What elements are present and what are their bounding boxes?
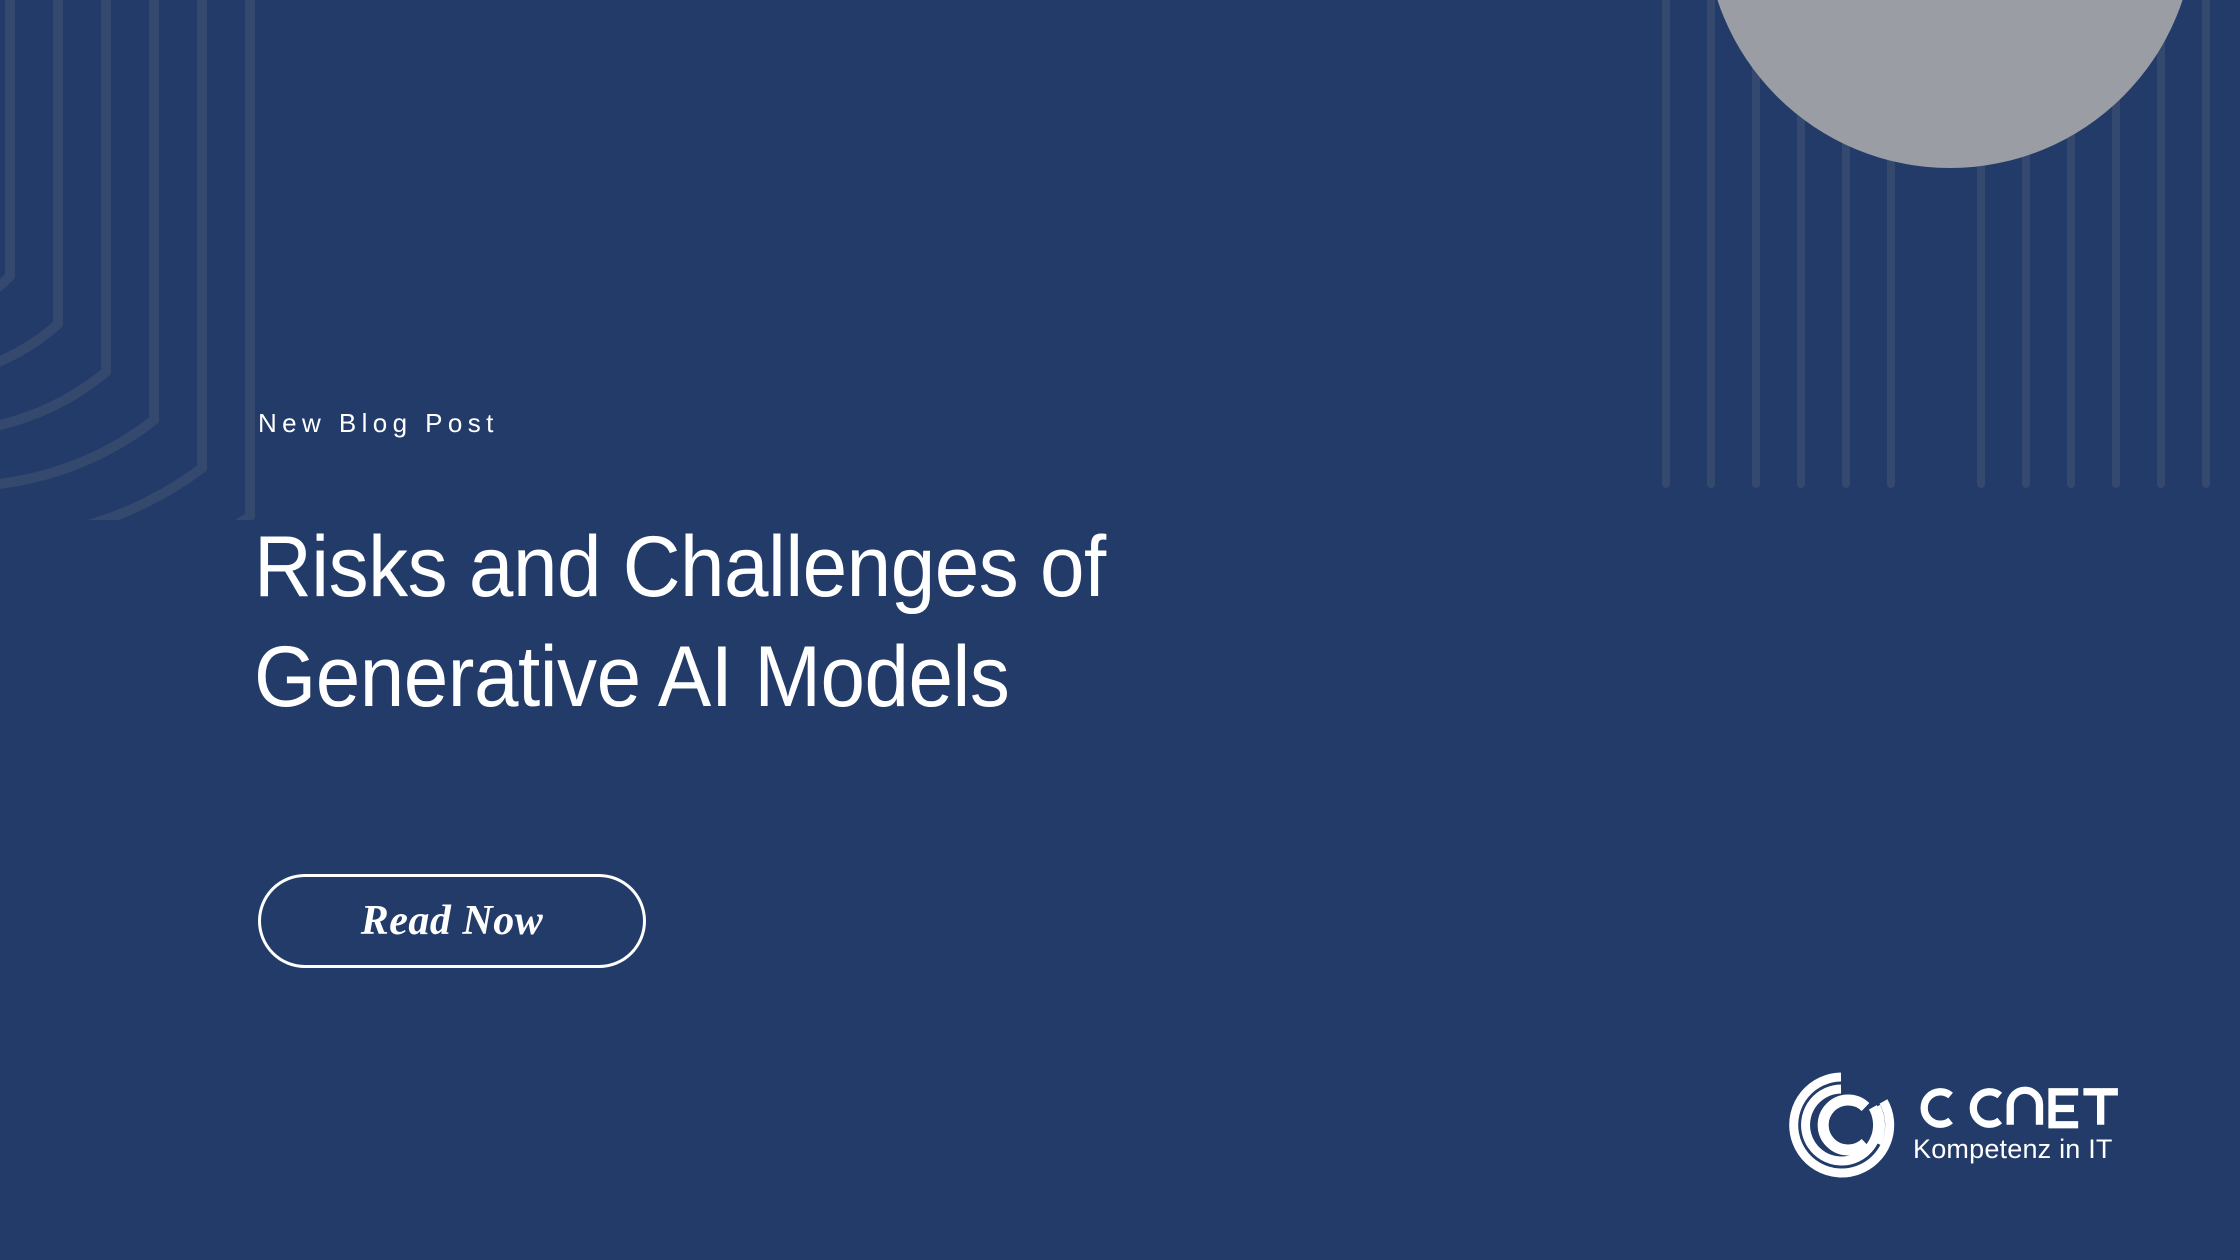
ccnet-concentric-c-icon [1787,1071,1895,1179]
circle-shape-icon [1705,0,2195,168]
ccnet-logo[interactable]: Kompetenz in IT [1787,1065,2107,1185]
vertical-lines-icon [1630,0,2240,500]
page-title: Risks and Challenges of Generative AI Mo… [254,512,1106,732]
blog-promo-banner: New Blog Post Risks and Challenges of Ge… [0,0,2240,1260]
ccnet-tagline: Kompetenz in IT [1913,1133,2122,1165]
ccnet-wordmark [1913,1085,2122,1131]
read-now-label: Read Now [361,897,544,945]
eyebrow-label: New Blog Post [258,408,499,438]
ccnet-wordmark-group: Kompetenz in IT [1913,1085,2122,1165]
read-now-button[interactable]: Read Now [258,874,646,968]
banner-content: New Blog Post Risks and Challenges of Ge… [258,0,1558,1260]
